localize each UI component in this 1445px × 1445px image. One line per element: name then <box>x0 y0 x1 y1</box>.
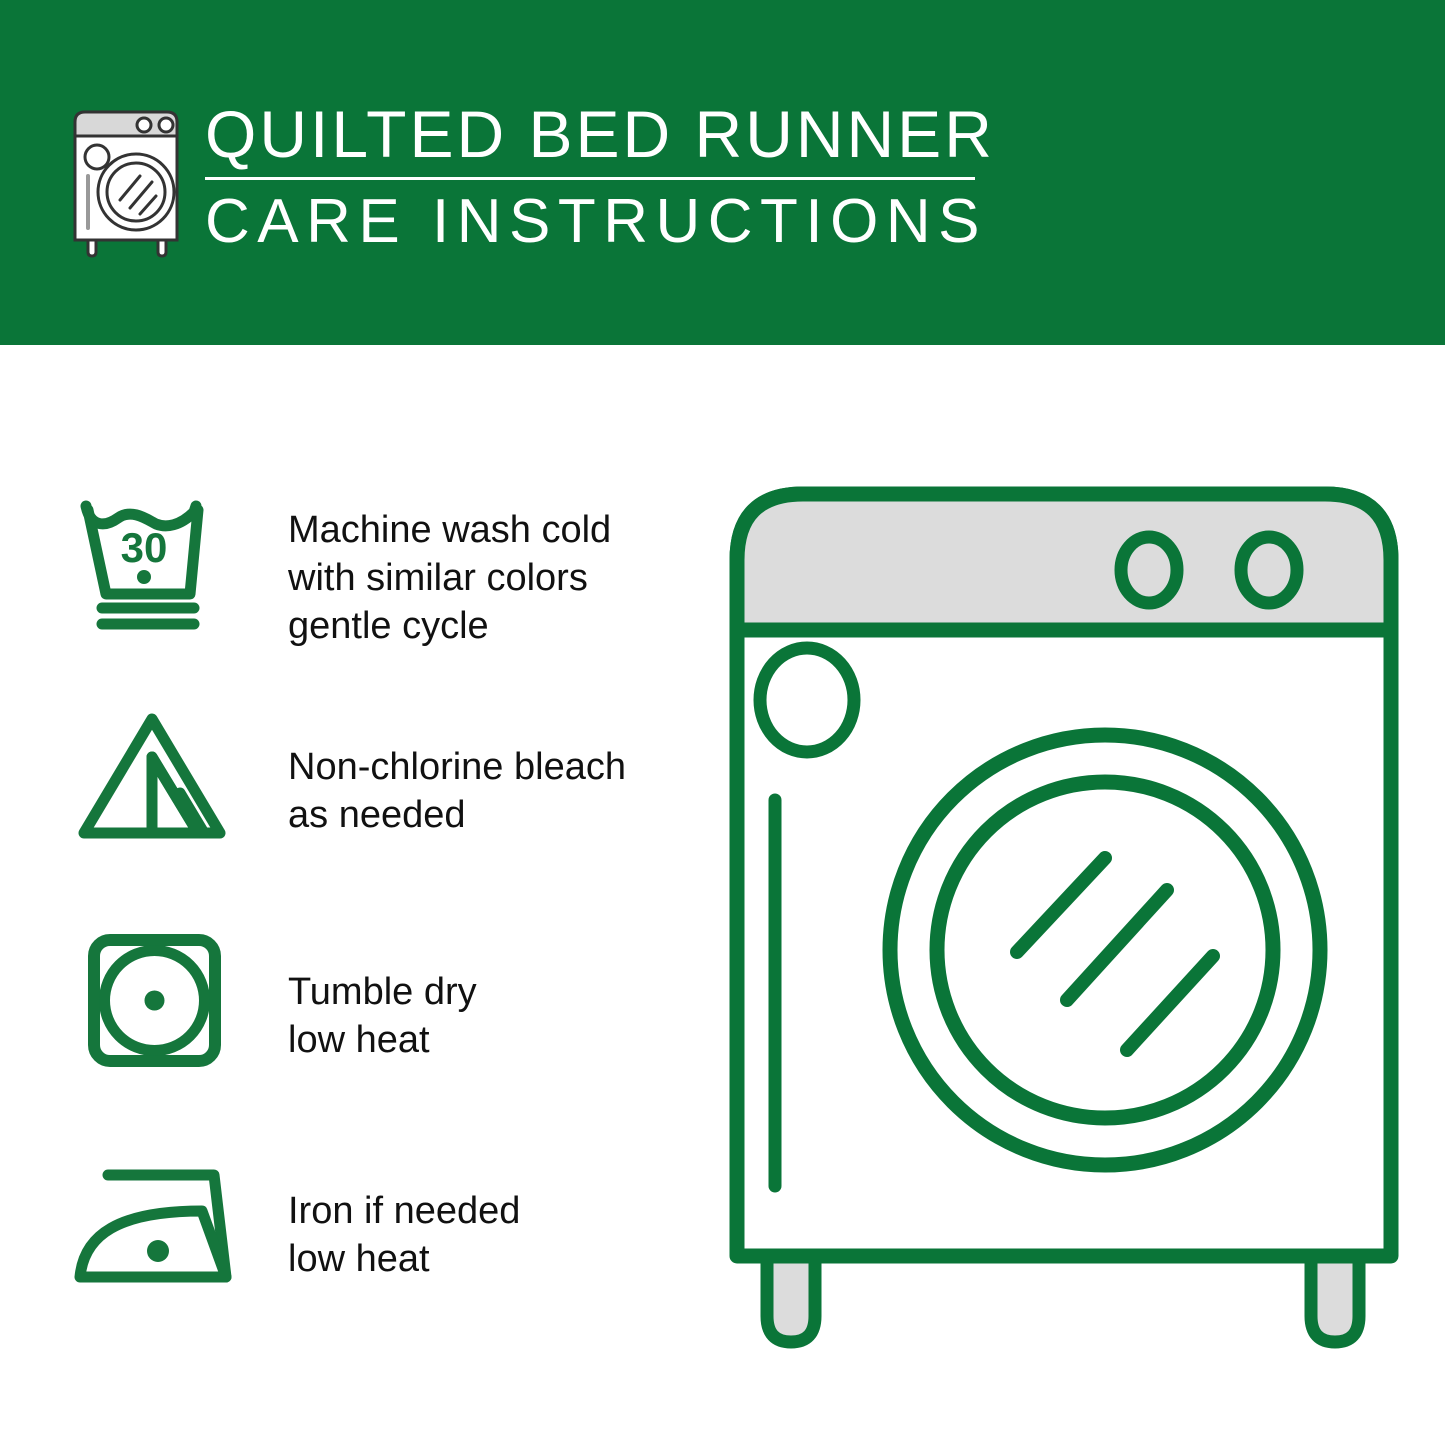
page-subtitle: CARE INSTRUCTIONS <box>205 184 995 260</box>
care-label-line: Iron if needed <box>288 1187 520 1235</box>
care-label-line: Tumble dry <box>288 968 477 1016</box>
care-label-line: with similar colors <box>288 554 611 602</box>
iron-low-heat-icon <box>66 1159 246 1294</box>
title-divider <box>205 177 975 180</box>
care-label-line: as needed <box>288 791 626 839</box>
non-chlorine-bleach-triangle-icon <box>70 705 240 850</box>
care-item-label-bleach: Non-chlorine bleach as needed <box>288 743 626 839</box>
care-label-line: low heat <box>288 1016 477 1064</box>
care-label-line: Non-chlorine bleach <box>288 743 626 791</box>
care-label-line: gentle cycle <box>288 602 611 650</box>
page-title: QUILTED BED RUNNER <box>205 95 995 173</box>
wash-tub-30-gentle-icon: 30 <box>70 490 240 635</box>
leg-right <box>1311 1256 1359 1342</box>
header-text-block: QUILTED BED RUNNER CARE INSTRUCTIONS <box>205 95 995 260</box>
care-item-label-machine-wash: Machine wash cold with similar colors ge… <box>288 506 611 650</box>
care-item-iron: Iron if needed low heat <box>0 1145 640 1370</box>
leg-left <box>767 1256 815 1342</box>
front-load-washing-machine-illustration <box>715 470 1415 1370</box>
care-instructions-infographic: QUILTED BED RUNNER CARE INSTRUCTIONS <box>0 0 1445 1445</box>
care-item-machine-wash: 30 Machine wash cold with similar colors… <box>0 470 640 695</box>
header-band: QUILTED BED RUNNER CARE INSTRUCTIONS <box>0 0 1445 345</box>
washing-machine-icon <box>62 100 190 260</box>
care-item-bleach: Non-chlorine bleach as needed <box>0 695 640 920</box>
care-label-line: low heat <box>288 1235 520 1283</box>
wash-temperature-label: 30 <box>121 524 168 571</box>
care-item-label-tumble-dry: Tumble dry low heat <box>288 968 477 1064</box>
care-item-tumble-dry: Tumble dry low heat <box>0 920 640 1145</box>
care-symbol-list: 30 Machine wash cold with similar colors… <box>0 470 640 1370</box>
care-item-label-iron: Iron if needed low heat <box>288 1187 520 1283</box>
care-label-line: Machine wash cold <box>288 506 611 554</box>
tumble-dry-low-heat-icon <box>82 928 227 1073</box>
